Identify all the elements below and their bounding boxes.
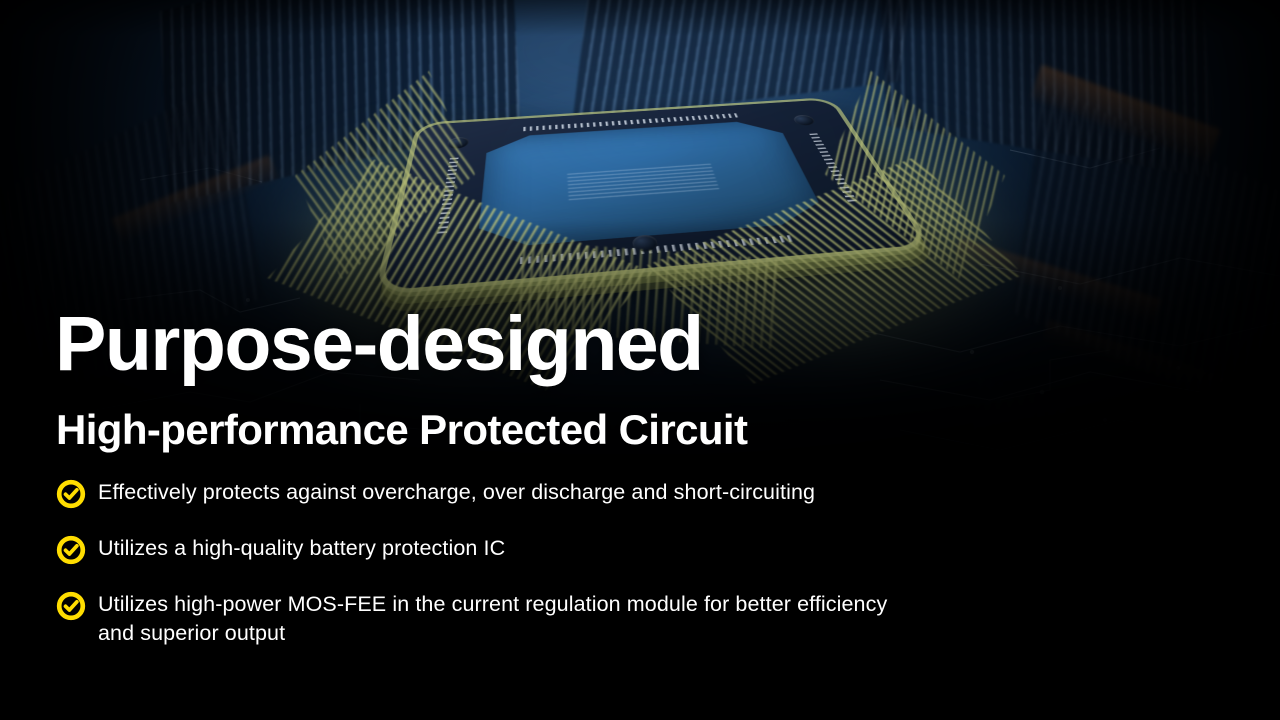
list-item-label: Utilizes a high-quality battery protecti… [98, 534, 505, 563]
check-circle-icon [56, 479, 86, 509]
slide-content: Purpose-designed High-performance Protec… [0, 0, 1280, 720]
slide-root: Purpose-designed High-performance Protec… [0, 0, 1280, 720]
list-item: Utilizes high-power MOS-FEE in the curre… [56, 590, 888, 648]
list-item: Effectively protects against overcharge,… [56, 478, 815, 509]
check-circle-icon [56, 535, 86, 565]
list-item-label: Utilizes high-power MOS-FEE in the curre… [98, 590, 888, 648]
page-subtitle: High-performance Protected Circuit [56, 409, 747, 451]
list-item: Utilizes a high-quality battery protecti… [56, 534, 505, 565]
page-title: Purpose-designed [55, 306, 703, 383]
list-item-label: Effectively protects against overcharge,… [98, 478, 815, 507]
check-circle-icon [56, 591, 86, 621]
